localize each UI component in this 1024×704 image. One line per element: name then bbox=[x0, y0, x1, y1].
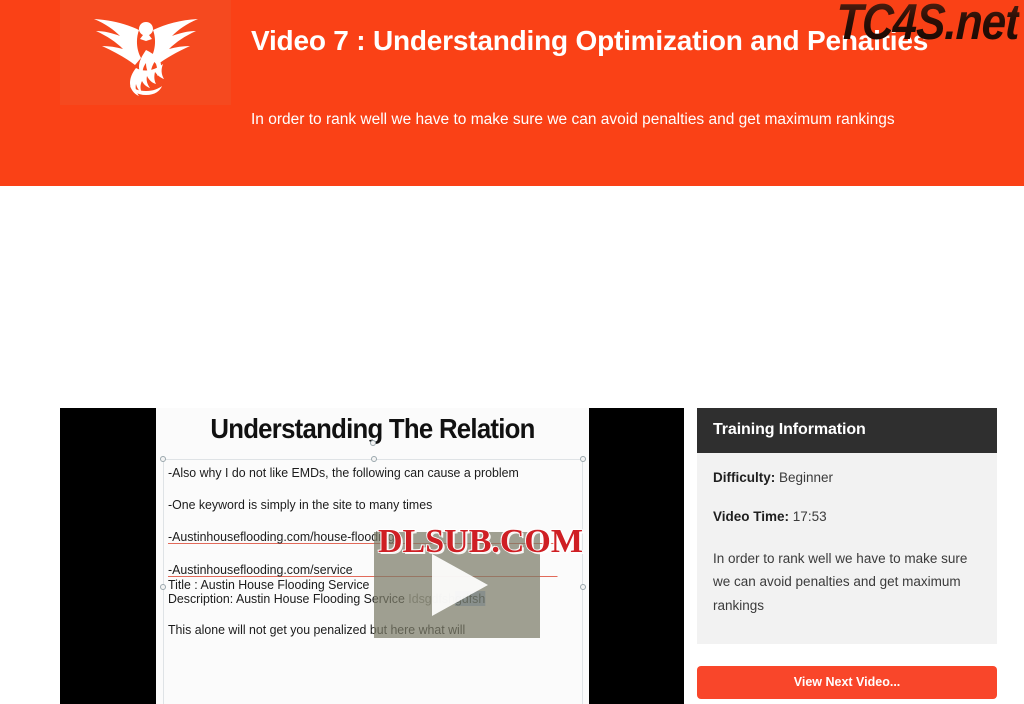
page-header: Video 7 : Understanding Optimization and… bbox=[0, 0, 1024, 186]
difficulty-value: Beginner bbox=[779, 470, 833, 485]
training-info-sidebar: Training Information Difficulty: Beginne… bbox=[697, 408, 997, 699]
main-content: Understanding The Relation -Also why I d… bbox=[0, 186, 1024, 704]
page-subtitle: In order to rank well we have to make su… bbox=[251, 108, 957, 132]
tc4s-watermark: TC4S.net bbox=[836, 0, 1020, 52]
training-description: In order to rank well we have to make su… bbox=[713, 547, 981, 618]
play-triangle-icon bbox=[432, 554, 488, 616]
page-root: Video 7 : Understanding Optimization and… bbox=[0, 0, 1024, 704]
slide-line-6-text: Description: Austin House Flooding Servi… bbox=[168, 591, 405, 606]
video-time-value: 17:53 bbox=[793, 509, 827, 524]
slide-line-2: -One keyword is simply in the site to ma… bbox=[168, 498, 558, 511]
slide-handle-tr bbox=[580, 456, 586, 462]
slide-line-1: -Also why I do not like EMDs, the follow… bbox=[168, 466, 558, 479]
slide-handle-tl bbox=[160, 456, 166, 462]
view-next-video-button[interactable]: View Next Video... bbox=[697, 666, 997, 699]
phoenix-logo-icon bbox=[86, 10, 206, 96]
video-time-row: Video Time: 17:53 bbox=[713, 508, 981, 527]
slide-handle-ml bbox=[160, 584, 166, 590]
dlsub-watermark: DLSUB.COM bbox=[378, 523, 583, 561]
video-player[interactable]: Understanding The Relation -Also why I d… bbox=[60, 408, 684, 704]
slide-handle-mr bbox=[580, 584, 586, 590]
difficulty-label: Difficulty: bbox=[713, 470, 775, 485]
logo-container bbox=[60, 0, 231, 105]
training-info-body: Difficulty: Beginner Video Time: 17:53 I… bbox=[697, 453, 997, 644]
video-time-label: Video Time: bbox=[713, 509, 789, 524]
slide-handle-tc bbox=[371, 456, 377, 462]
slide-handle-rotate bbox=[370, 440, 376, 446]
difficulty-row: Difficulty: Beginner bbox=[713, 469, 981, 488]
training-info-header: Training Information bbox=[697, 408, 997, 453]
